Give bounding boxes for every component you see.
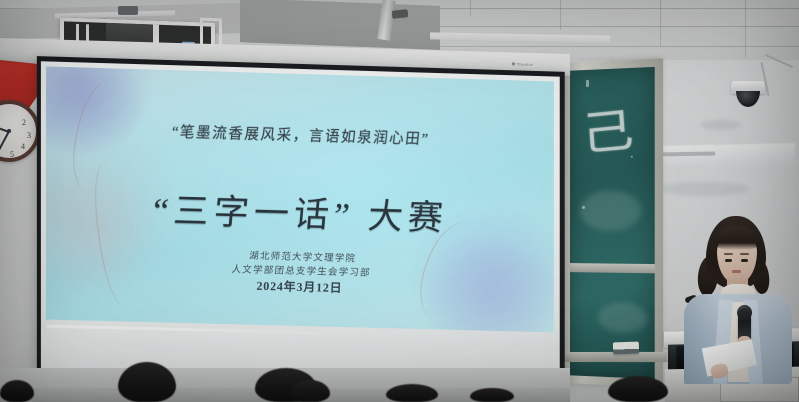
audience-head — [0, 380, 34, 402]
audience-head — [290, 380, 330, 402]
speaker-eye-left — [725, 259, 732, 262]
screen-surface: “笔墨流香展风采，言语如泉润心田” “三字一话” 大赛 湖北师范大学文理学院 人… — [41, 61, 560, 382]
chalkboard-panel-divider — [570, 263, 655, 273]
ceiling-sensor-icon-2 — [392, 9, 409, 19]
chalkboard-eraser — [613, 342, 639, 355]
clock-number-5: 5 — [10, 150, 14, 159]
speaker-brow-right — [740, 253, 749, 255]
clock-minute-hand — [0, 131, 10, 153]
chalkboard-writing: 己 — [579, 93, 635, 165]
screen-glare — [47, 325, 348, 336]
green-chalkboard: 己 — [563, 58, 663, 387]
clock-center — [7, 129, 11, 133]
audience-head — [386, 384, 438, 402]
chalkboard-surface: 己 — [570, 67, 655, 379]
projected-slide: “笔墨流香展风采，言语如泉润心田” “三字一话” 大赛 湖北师范大学文理学院 人… — [46, 66, 554, 332]
ceiling-sensor-icon — [118, 6, 138, 15]
speaker-brow-left — [724, 253, 733, 255]
speaker-mouth — [732, 270, 741, 273]
clock-number-2: 2 — [22, 118, 26, 127]
clock-number-4: 4 — [21, 142, 25, 151]
audience-head — [608, 376, 668, 402]
speaker — [680, 216, 798, 376]
speaker-eye-right — [741, 259, 748, 262]
projection-screen: “笔墨流香展风采，言语如泉润心田” “三字一话” 大赛 湖北师范大学文理学院 人… — [37, 56, 565, 388]
classroom-scene: 2 3 4 5 己 Theatre — [0, 0, 799, 402]
ceiling-duct — [240, 0, 440, 50]
clock-number-3: 3 — [27, 131, 31, 140]
audience-head — [470, 388, 514, 402]
housing-brand-label: Theatre — [512, 61, 533, 67]
